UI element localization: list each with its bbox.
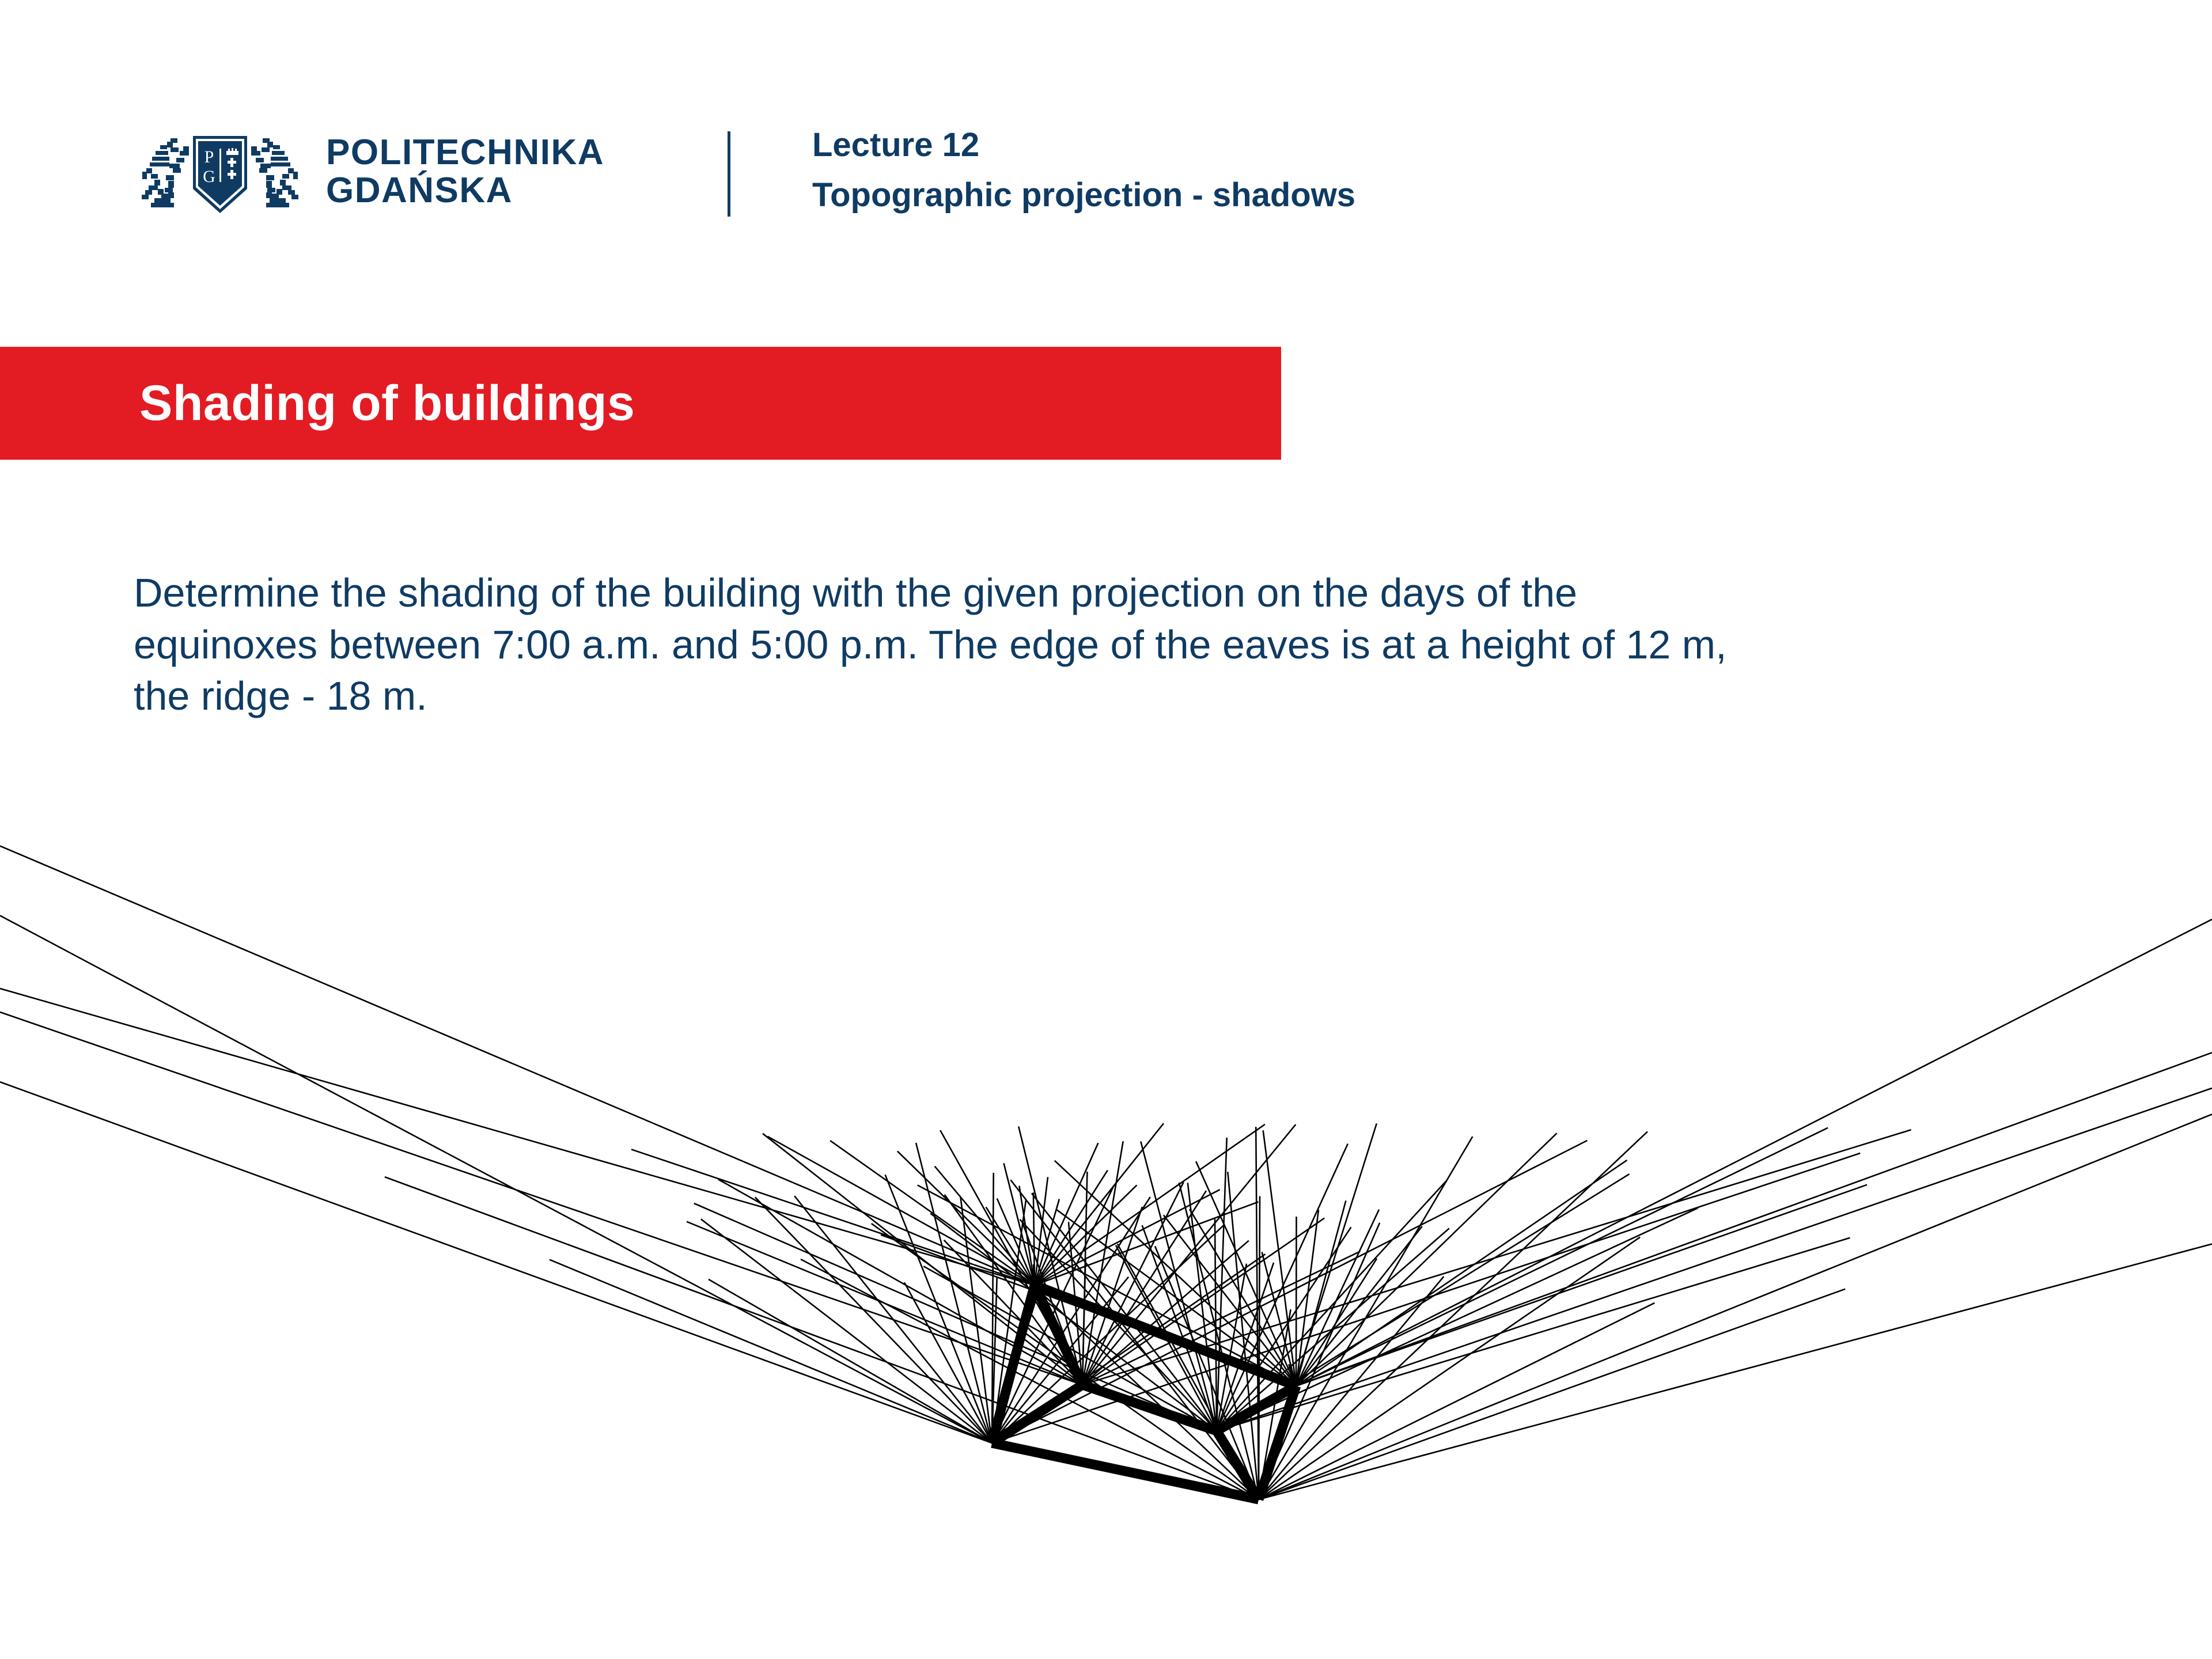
- shadow-ray: [961, 1198, 993, 1443]
- extreme-shadow-ray: [1296, 919, 2212, 1386]
- shadow-ray: [1082, 1218, 1324, 1385]
- topographic-projection-figure: [0, 0, 2212, 1659]
- slide-canvas: P G POLITECHNIKA GDAŃSKA Lecture 12 Topo…: [0, 0, 2212, 1659]
- extreme-shadow-ray: [1259, 1244, 2212, 1500]
- shadow-ray: [1082, 1182, 1184, 1385]
- shadow-ray: [631, 1149, 1035, 1285]
- shadow-ray: [916, 1143, 992, 1443]
- shadow-ray: [1018, 1127, 1082, 1385]
- figure-svg: [0, 0, 2212, 1659]
- shadow-ray: [709, 1279, 992, 1443]
- extreme-shadow-ray: [0, 1082, 992, 1443]
- shadow-ray: [385, 1177, 1259, 1499]
- shadow-ray: [1035, 1171, 1108, 1286]
- shadow-ray: [1259, 1303, 1654, 1499]
- ridge-line: [1082, 1385, 1217, 1431]
- sun-ray-fan: [0, 846, 2212, 1499]
- shadow-ray: [701, 1219, 992, 1443]
- extreme-shadow-ray: [1217, 1088, 2212, 1431]
- extreme-shadow-ray: [0, 1012, 1082, 1385]
- shadow-ray: [1296, 1185, 1867, 1386]
- extreme-shadow-ray: [0, 988, 1035, 1285]
- noon-construction-line: [1215, 1219, 1217, 1431]
- shadow-ray: [550, 1260, 992, 1443]
